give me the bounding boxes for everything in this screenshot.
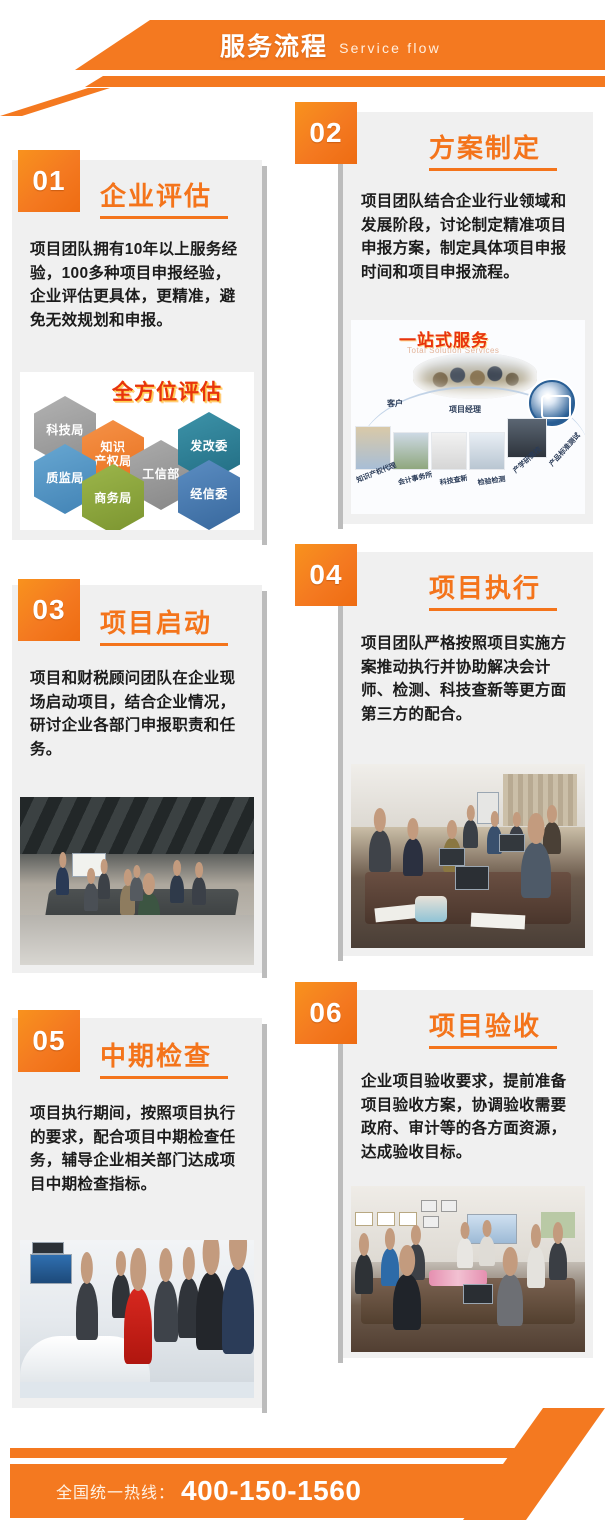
hexagon-diagram: 全方位评估 科技局 知识产权局 质监局 工信部 商务局 发改委 经信委 [20, 372, 254, 530]
photo-floor [20, 1382, 254, 1398]
photo-person [192, 877, 206, 905]
step-card-06: 06 项目验收 企业项目验收要求，提前准备项目验收方案，协调验收需要政府、审计等… [343, 990, 593, 1358]
step-title: 项目执行 [429, 568, 541, 605]
photo-display-screen [32, 1242, 64, 1254]
step-title: 项目启动 [100, 603, 212, 640]
photo-laptop [499, 834, 525, 852]
step-number-badge: 05 [18, 1010, 80, 1072]
photo-display-screen [30, 1254, 72, 1284]
step-media-hexagon-diagram: 全方位评估 科技局 知识产权局 质监局 工信部 商务局 发改委 经信委 [20, 372, 254, 530]
hexagon-node-label: 科技局 [46, 424, 84, 438]
one-stop-diagram: 一站式服务 Total Solution Services 客户 项目经理 知识… [351, 320, 585, 514]
step-card-01: 01 企业评估 项目团队拥有10年以上服务经验，100多种项目申报经验，企业评估… [12, 160, 262, 540]
photo-person [403, 838, 423, 876]
step-card-03: 03 项目启动 项目和财税顾问团队在企业现场启动项目，结合企业情况，研讨企业各部… [12, 585, 262, 973]
photo-person [170, 875, 184, 903]
photo-bag [415, 896, 447, 922]
photo-floor [20, 915, 254, 965]
one-stop-thumb-office [393, 432, 429, 470]
step-number: 03 [32, 594, 65, 626]
header-diagonal-accent [0, 88, 230, 116]
step-description: 项目和财税顾问团队在企业现场启动项目，结合企业情况，研讨企业各部门申报职责和任务… [30, 667, 244, 761]
step-description: 项目团队严格按照项目实施方案推动执行并协助解决会计师、检测、科技查新等更方面第三… [361, 632, 575, 726]
one-stop-thumb-lab [469, 432, 505, 470]
step-number-badge: 06 [295, 982, 357, 1044]
one-stop-node-customer: 客户 [387, 398, 403, 409]
photo-person [222, 1266, 254, 1354]
step-number-badge: 02 [295, 102, 357, 164]
photo-certificate [421, 1200, 437, 1212]
photo-certificate [377, 1212, 395, 1226]
step-number: 02 [309, 117, 342, 149]
card-shadow [262, 166, 267, 545]
photo-person [521, 842, 551, 898]
one-stop-caption: 会计事务所 [397, 470, 433, 488]
photo-certificate [355, 1212, 373, 1226]
step-description: 项目执行期间，按照项目执行的要求，配合项目中期检查任务，辅导企业相关部门达成项目… [30, 1102, 244, 1196]
photo-showroom-tour [20, 1240, 254, 1398]
card-shadow [262, 1024, 267, 1413]
photo-person [355, 1254, 373, 1294]
page-header: 服务流程 Service flow [0, 0, 605, 112]
photo-laptop [439, 848, 465, 866]
photo-person-red-coat [124, 1288, 152, 1364]
page-title: 服务流程 [220, 27, 328, 63]
step-number-badge: 01 [18, 150, 80, 212]
step-media-photo-conference-room [20, 797, 254, 965]
hexagon-diagram-title: 全方位评估 [112, 376, 222, 406]
hexagon-node-label: 商务局 [94, 492, 132, 506]
step-media-photo-showroom-tour [20, 1240, 254, 1398]
photo-person [84, 883, 98, 911]
one-stop-caption: 科技查新 [439, 473, 468, 488]
title-underline [429, 608, 557, 611]
photo-laptop [455, 866, 489, 890]
step-media-photo-laptop-meeting [351, 764, 585, 948]
step-card-04: 04 项目执行 项目团队严格按照项目实施方案推动执行并协助解决会计师、检测、科技… [343, 552, 593, 956]
photo-person [479, 1236, 495, 1266]
photo-person [497, 1274, 523, 1326]
step-description: 项目团队结合企业行业领域和发展阶段，讨论制定精准项目申报方案，制定具体项目申报时… [361, 190, 575, 284]
page-subtitle: Service flow [339, 40, 441, 56]
hotline-number[interactable]: 400-150-1560 [181, 1475, 361, 1507]
photo-person [457, 1238, 473, 1268]
header-title-group: 服务流程 Service flow [0, 20, 605, 70]
step-title: 企业评估 [100, 176, 212, 213]
photo-person [369, 830, 391, 872]
title-underline [100, 1076, 228, 1079]
step-media-one-stop-diagram: 一站式服务 Total Solution Services 客户 项目经理 知识… [351, 320, 585, 514]
one-stop-caption: 检验检测 [477, 474, 506, 488]
step-number: 01 [32, 165, 65, 197]
title-underline [429, 1046, 557, 1049]
hexagon-node-label: 经信委 [190, 488, 228, 502]
step-description: 项目团队拥有10年以上服务经验，100多种项目申报经验，企业评估更具体，更精准，… [30, 238, 244, 332]
hexagon-node-label: 工信部 [142, 468, 180, 482]
photo-person [98, 873, 110, 899]
photo-ceiling [20, 797, 254, 854]
photo-large-meeting [351, 1186, 585, 1352]
card-shadow [262, 591, 267, 978]
photo-papers [471, 913, 526, 930]
photo-person [549, 1242, 567, 1280]
step-title: 中期检查 [100, 1036, 212, 1073]
card-shadow [338, 558, 343, 961]
step-title: 项目验收 [429, 1006, 541, 1043]
step-number-badge: 04 [295, 544, 357, 606]
photo-laptop [463, 1284, 493, 1304]
title-underline [100, 643, 228, 646]
card-shadow [338, 118, 343, 529]
photo-conference-room [20, 797, 254, 965]
photo-certificate [423, 1216, 439, 1228]
hexagon-node-label: 发改委 [190, 440, 228, 454]
photo-person [381, 1248, 399, 1286]
step-media-photo-large-meeting [351, 1186, 585, 1352]
title-underline [100, 216, 228, 219]
step-card-02: 02 方案制定 项目团队结合企业行业领域和发展阶段，讨论制定精准项目申报方案，制… [343, 112, 593, 524]
photo-certificate [399, 1212, 417, 1226]
step-title: 方案制定 [429, 128, 541, 165]
step-number: 06 [309, 997, 342, 1029]
hotline-label: 全国统一热线： [56, 1479, 175, 1503]
step-card-05: 05 中期检查 项目执行期间，按照项目执行的要求，配合项目中期检查任务，辅导企业… [12, 1018, 262, 1408]
step-number: 05 [32, 1025, 65, 1057]
card-shadow [338, 996, 343, 1363]
step-number: 04 [309, 559, 342, 591]
photo-person [154, 1280, 178, 1342]
photo-person [527, 1246, 545, 1288]
one-stop-thumb-docs [431, 432, 467, 470]
page-footer: 全国统一热线： 400-150-1560 [0, 1408, 605, 1538]
photo-certificate [441, 1200, 457, 1212]
photo-person [76, 1282, 98, 1340]
step-description: 企业项目验收要求，提前准备项目验收方案，协调验收需要政府、审计等的各方面资源，达… [361, 1070, 575, 1164]
hotline-group: 全国统一热线： 400-150-1560 [56, 1464, 361, 1518]
step-number-badge: 03 [18, 579, 80, 641]
photo-laptop-meeting [351, 764, 585, 948]
photo-person [393, 1274, 421, 1330]
hexagon-node-label: 质监局 [46, 472, 84, 486]
title-underline [429, 168, 557, 171]
photo-person [56, 867, 69, 895]
header-stripe-shape [0, 76, 605, 87]
one-stop-node-manager: 项目经理 [449, 404, 481, 415]
photo-person [463, 820, 478, 848]
photo-person [130, 877, 143, 901]
